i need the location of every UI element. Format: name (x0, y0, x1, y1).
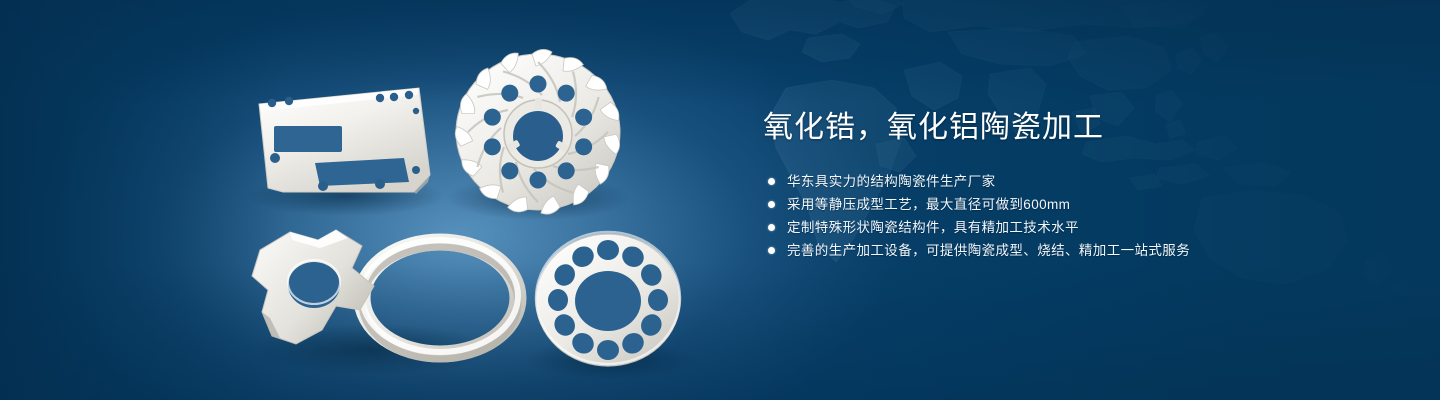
list-item-label: 采用等静压成型工艺，最大直径可做到600mm (787, 197, 1070, 212)
ceramic-plate-part (259, 88, 430, 194)
banner-copy: 氧化锆，氧化铝陶瓷加工 华东具实力的结构陶瓷件生产厂家 采用等静压成型工艺，最大… (763, 108, 1383, 262)
product-banner: 氧化锆，氧化铝陶瓷加工 华东具实力的结构陶瓷件生产厂家 采用等静压成型工艺，最大… (0, 0, 1440, 400)
list-item-label: 定制特殊形状陶瓷结构件，具有精加工技术水平 (787, 220, 1079, 235)
list-item-label: 完善的生产加工设备，可提供陶瓷成型、烧结、精加工一站式服务 (787, 243, 1190, 258)
list-item: 完善的生产加工设备，可提供陶瓷成型、烧结、精加工一站式服务 (763, 239, 1383, 262)
bullet-dot-icon (768, 178, 775, 185)
list-item-label: 华东具实力的结构陶瓷件生产厂家 (787, 174, 996, 189)
bullet-dot-icon (768, 247, 775, 254)
ceramic-products-image (0, 0, 720, 400)
list-item: 华东具实力的结构陶瓷件生产厂家 (763, 170, 1383, 193)
bullet-dot-icon (768, 201, 775, 208)
feature-list: 华东具实力的结构陶瓷件生产厂家 采用等静压成型工艺，最大直径可做到600mm 定… (763, 170, 1383, 262)
page-title: 氧化锆，氧化铝陶瓷加工 (763, 108, 1383, 148)
ceramic-perforated-disc-part (536, 232, 680, 366)
list-item: 采用等静压成型工艺，最大直径可做到600mm (763, 193, 1383, 216)
bullet-dot-icon (768, 224, 775, 231)
list-item: 定制特殊形状陶瓷结构件，具有精加工技术水平 (763, 216, 1383, 239)
